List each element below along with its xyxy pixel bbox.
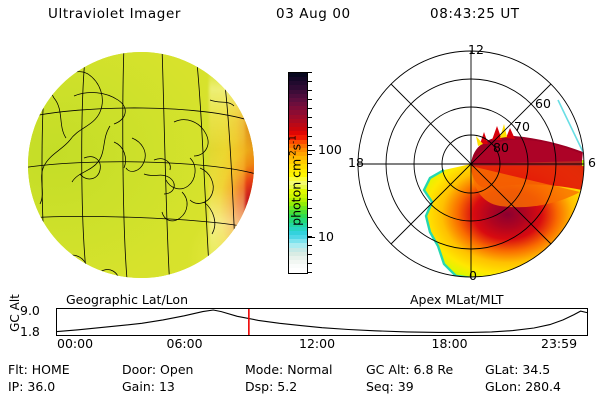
colorbar-tick [308,145,312,146]
colorbar-unit-exp2: -1 [288,135,298,143]
geographic-grid-overlay [14,42,260,290]
instrument-title: Ultraviolet Imager [48,6,181,22]
colorbar-band [289,268,307,272]
colorbar-tick [308,72,312,73]
status-gc-alt: GC Alt: 6.8 Re [366,364,453,377]
polar-mlat-label-60: 60 [535,98,551,111]
polar-mlat-label-70: 70 [514,121,530,134]
time-tick: 06:00 [167,338,203,351]
colorbar-tick [308,154,312,155]
polar-mlt-label-18: 18 [348,157,364,170]
orbit-title-apex: Apex MLat/MLT [410,292,504,307]
colorbar-tick [308,208,312,209]
polar-mlt-label-0: 0 [469,270,477,283]
polar-aurora-patch [424,98,585,278]
colorbar-unit-main: photon cm [289,159,304,226]
colorbar-tick [308,190,312,191]
orbit-altitude-panel: Geographic Lat/Lon Apex MLat/MLT GC Alt … [0,292,600,354]
gc-alt-tick: 9.0 [20,305,40,318]
altitude-track-svg [57,309,587,335]
colorbar-tick [308,263,312,264]
colorbar-tick [308,90,312,91]
status-flt: Flt: HOME [8,364,70,377]
geographic-globe-panel [14,42,260,290]
colorbar-major-tick [308,150,315,152]
colorbar-unit-mid: s [289,144,304,151]
colorbar-tick [308,81,312,82]
polar-mlat-label-80: 80 [493,142,509,155]
colorbar-tick [308,117,312,118]
time-tick: 18:00 [432,338,468,351]
status-seq: Seq: 39 [366,381,414,394]
uvi-display: Ultraviolet Imager 03 Aug 00 08:43:25 UT [0,0,600,400]
colorbar-tick [308,136,312,137]
status-ip: IP: 36.0 [8,381,55,394]
colorbar-tick [308,227,312,228]
colorbar-tick [308,245,312,246]
colorbar-tick [308,172,312,173]
colorbar-value-label: 100 [318,144,342,157]
colorbar-major-tick [308,237,315,239]
status-footer: Flt: HOME Door: Open Mode: Normal GC Alt… [0,362,600,400]
orbit-title-geographic: Geographic Lat/Lon [66,292,188,307]
colorbar-tick [308,108,312,109]
status-dsp: Dsp: 5.2 [245,381,297,394]
colorbar-tick [308,217,312,218]
colorbar-value-label: 10 [318,230,334,243]
colorbar-tick [308,127,312,128]
time-tick: 00:00 [57,338,93,351]
polar-mlt-label-12: 12 [468,44,484,57]
status-mode: Mode: Normal [245,364,333,377]
colorbar-ticks [308,72,316,274]
colorbar-tick [308,163,312,164]
colorbar-axis-title: photon cm-2s-1 [288,106,303,256]
time-tick: 23:59 [541,338,577,351]
apex-polar-panel: 12 18 6 0 60 70 80 [352,40,600,292]
gc-alt-tick: 1.8 [20,326,40,339]
status-glon: GLon: 280.4 [485,381,561,394]
polar-mlt-label-6: 6 [588,157,596,170]
header: Ultraviolet Imager 03 Aug 00 08:43:25 UT [0,6,600,28]
observation-date: 03 Aug 00 [276,6,351,22]
status-gain: Gain: 13 [122,381,175,394]
status-glat: GLat: 34.5 [485,364,550,377]
colorbar-tick [308,199,312,200]
polar-dial-plot [352,40,600,292]
orbit-plot-frame[interactable] [56,308,588,336]
status-door: Door: Open [122,364,193,377]
observation-time: 08:43:25 UT [430,6,520,22]
time-tick: 12:00 [299,338,335,351]
colorbar-panel: 10010 photon cm-2s-1 [256,42,352,292]
colorbar-tick [308,254,312,255]
colorbar-tick [308,272,312,273]
colorbar-tick [308,99,312,100]
colorbar-unit-exp1: -2 [288,150,298,158]
colorbar-tick [308,181,312,182]
